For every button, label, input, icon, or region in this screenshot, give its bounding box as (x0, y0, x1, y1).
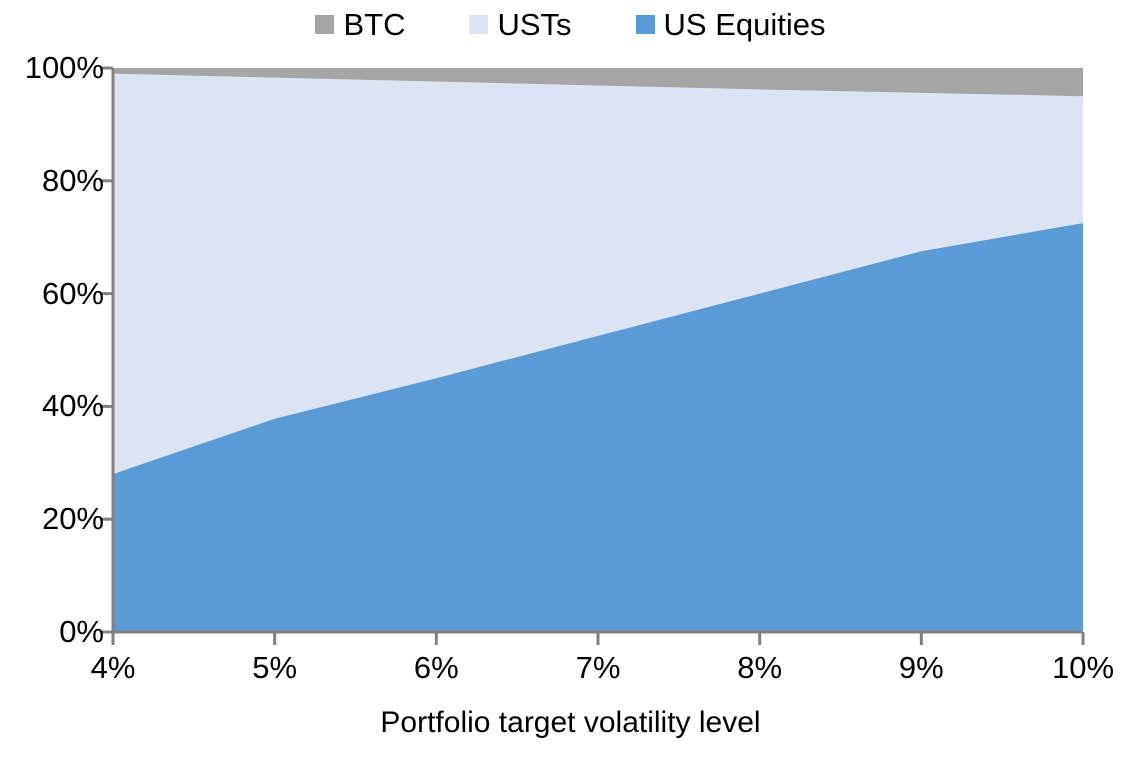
y-axis-tick-label: 60% (0, 278, 104, 309)
x-axis-tick-label: 6% (376, 650, 496, 686)
square-swatch-icon (636, 15, 655, 34)
x-axis-tick-label: 9% (861, 650, 981, 686)
legend-item-btc[interactable]: BTC (315, 9, 405, 40)
plot-area (113, 68, 1083, 632)
y-axis-tick-label: 0% (0, 616, 104, 647)
x-axis-tick-label: 5% (215, 650, 335, 686)
chart-legend: BTC USTs US Equities (0, 4, 1141, 44)
area-series-canvas (113, 68, 1083, 632)
y-axis-tick-label: 20% (0, 503, 104, 534)
x-axis-tick-label: 8% (700, 650, 820, 686)
y-axis-tick-label: 80% (0, 165, 104, 196)
y-axis-tick-label: 100% (0, 52, 104, 83)
legend-item-us-equities[interactable]: US Equities (636, 9, 826, 40)
square-swatch-icon (469, 15, 488, 34)
legend-label-usts: USTs (497, 9, 571, 40)
y-axis-tick-labels: 0%20%40%60%80%100% (0, 0, 104, 763)
x-axis-tick-label: 10% (1023, 650, 1141, 686)
legend-item-usts[interactable]: USTs (469, 9, 571, 40)
y-axis-tick-label: 40% (0, 390, 104, 421)
x-axis-tick-label: 4% (53, 650, 173, 686)
legend-label-us-equities: US Equities (664, 9, 826, 40)
square-swatch-icon (315, 15, 334, 34)
x-axis-ticks (113, 632, 1083, 645)
stacked-area-chart: BTC USTs US Equities 0%20%40%60%80%100% … (0, 0, 1141, 763)
x-axis-tick-label: 7% (538, 650, 658, 686)
x-axis-tick-labels: 4%5%6%7%8%9%10% (0, 650, 1141, 694)
legend-label-btc: BTC (343, 9, 405, 40)
x-axis-title: Portfolio target volatility level (0, 705, 1141, 741)
